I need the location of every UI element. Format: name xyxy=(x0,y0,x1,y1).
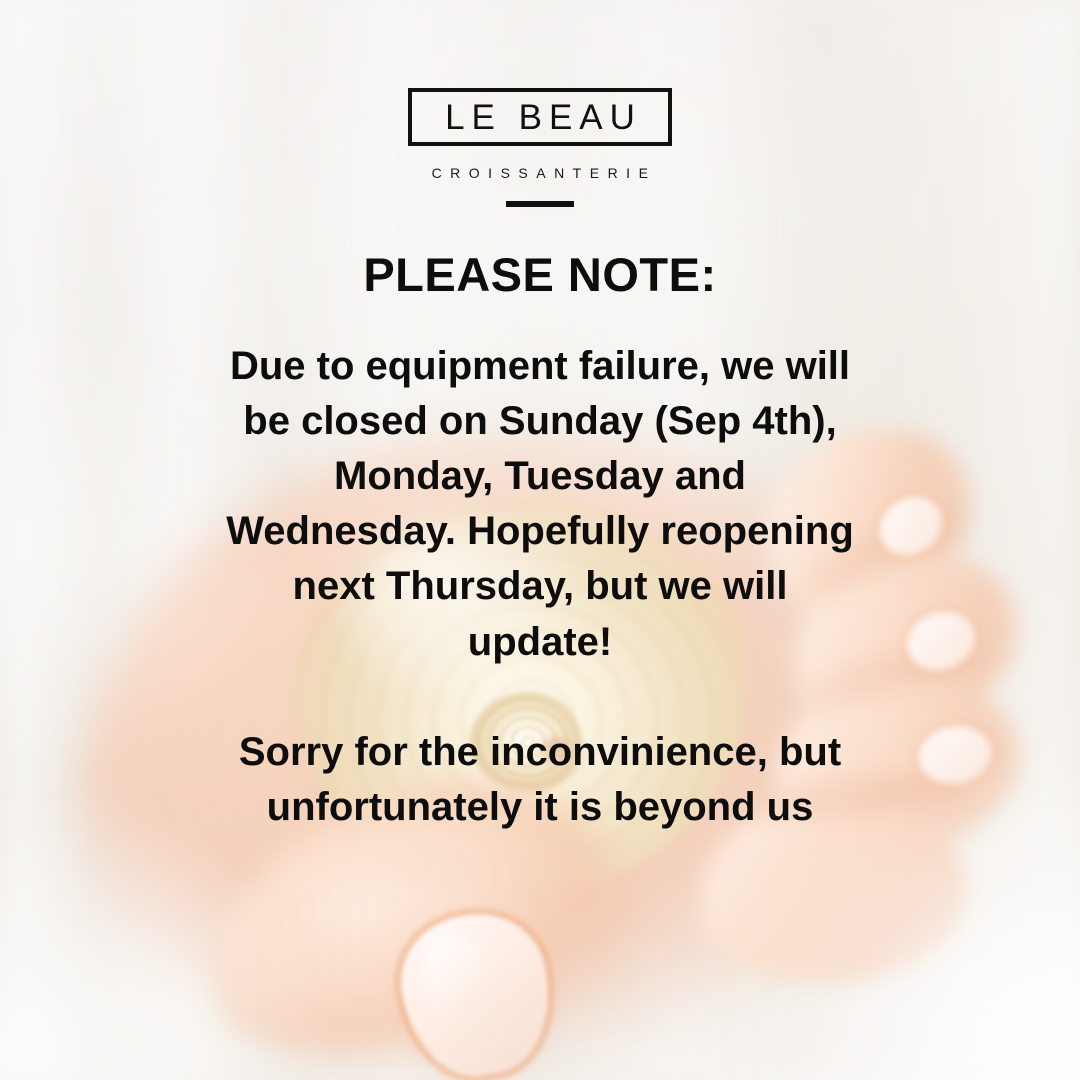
brand-wordmark: LE BEAU xyxy=(438,100,642,135)
poster-canvas: LE BEAU CROISSANTERIE PLEASE NOTE: Due t… xyxy=(0,0,1080,1080)
poster-content: LE BEAU CROISSANTERIE PLEASE NOTE: Due t… xyxy=(0,0,1080,1080)
notice-paragraph-closure: Due to equipment failure, we will be clo… xyxy=(140,339,940,670)
logo-frame: LE BEAU xyxy=(408,88,672,146)
logo-divider-rule xyxy=(506,201,574,207)
brand-subtitle: CROISSANTERIE xyxy=(424,165,657,181)
notice-heading: PLEASE NOTE: xyxy=(363,249,716,301)
brand-logo: LE BEAU CROISSANTERIE xyxy=(408,88,672,207)
notice-paragraph-apology: Sorry for the inconvinience, but unfortu… xyxy=(140,725,940,835)
